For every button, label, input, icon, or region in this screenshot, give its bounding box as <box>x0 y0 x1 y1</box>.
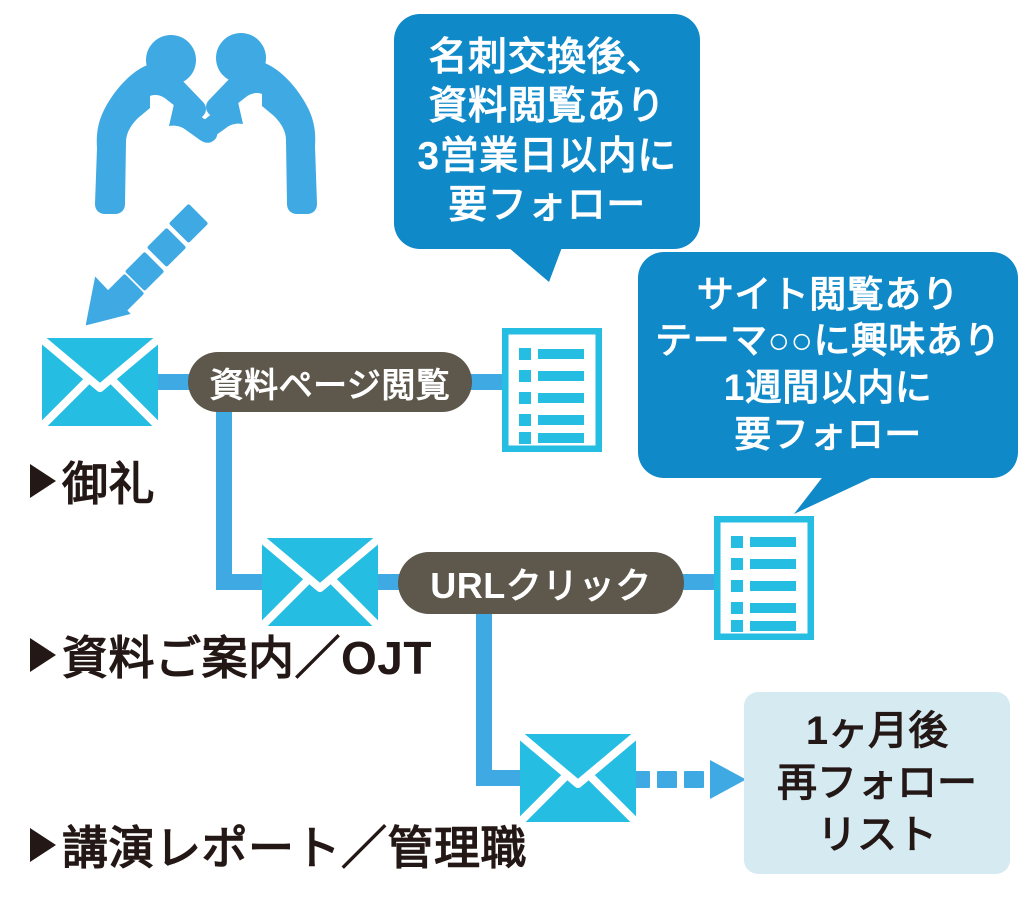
speech-bubble-2: サイト閲覧あり テーマ○○に興味あり 1週間以内に 要フォロー <box>638 252 1018 520</box>
bubble-1-line-1: 名刺交換後、 <box>428 33 665 82</box>
triangle-bullet-icon <box>30 638 56 672</box>
followup-line-3: リスト <box>817 809 937 861</box>
dashed-arrow-down-left-icon <box>86 198 216 338</box>
diagram-canvas: 名刺交換後、 資料閲覧あり 3営業日以内に 要フォロー サイト閲覧あり テーマ○… <box>0 0 1024 903</box>
stage-label-material-ojt: 資料ご案内／OJT <box>30 622 432 688</box>
envelope-icon <box>520 734 636 822</box>
bubble-1-line-3: 3営業日以内に <box>417 132 676 181</box>
stage-label-thanks-text: 御礼 <box>62 448 155 514</box>
bubble-2-line-1: サイト閲覧あり <box>697 272 960 319</box>
envelope-icon <box>262 538 378 626</box>
pill-url-click[interactable]: URLクリック <box>398 552 684 614</box>
speech-bubble-1: 名刺交換後、 資料閲覧あり 3営業日以内に 要フォロー <box>394 14 700 284</box>
envelope-icon <box>42 338 158 426</box>
stage-label-report-manager-text: 講演レポート／管理職 <box>62 812 527 878</box>
dashed-arrow-right-icon <box>630 752 750 806</box>
bubble-2-line-2: テーマ○○に興味あり <box>655 318 1001 365</box>
speech-bubble-1-body: 名刺交換後、 資料閲覧あり 3営業日以内に 要フォロー <box>394 14 700 249</box>
stage-label-report-manager: 講演レポート／管理職 <box>30 812 527 878</box>
pill-url-click-label: URLクリック <box>430 557 652 609</box>
triangle-bullet-icon <box>30 828 56 862</box>
followup-line-1: 1ヶ月後 <box>806 705 948 757</box>
bubble-1-line-2: 資料閲覧あり <box>428 82 665 131</box>
connector-pill2-down <box>476 600 492 778</box>
stage-label-material-ojt-text: 資料ご案内／OJT <box>62 622 432 688</box>
checklist-document-icon <box>502 328 602 452</box>
triangle-bullet-icon <box>30 464 56 498</box>
followup-list-box: 1ヶ月後 再フォロー リスト <box>744 692 1010 874</box>
bubble-1-line-4: 要フォロー <box>448 181 646 230</box>
pill-doc-page-view[interactable]: 資料ページ閲覧 <box>188 352 472 412</box>
business-card-exchange-icon <box>62 18 324 218</box>
bubble-2-line-3: 1週間以内に <box>724 365 933 412</box>
speech-bubble-2-body: サイト閲覧あり テーマ○○に興味あり 1週間以内に 要フォロー <box>638 252 1018 478</box>
bubble-2-line-4: 要フォロー <box>734 412 922 459</box>
stage-label-thanks: 御礼 <box>30 448 155 514</box>
checklist-document-icon <box>714 516 814 640</box>
pill-doc-page-view-label: 資料ページ閲覧 <box>210 358 451 407</box>
connector-pill1-down <box>216 400 232 582</box>
followup-line-2: 再フォロー <box>777 757 977 809</box>
